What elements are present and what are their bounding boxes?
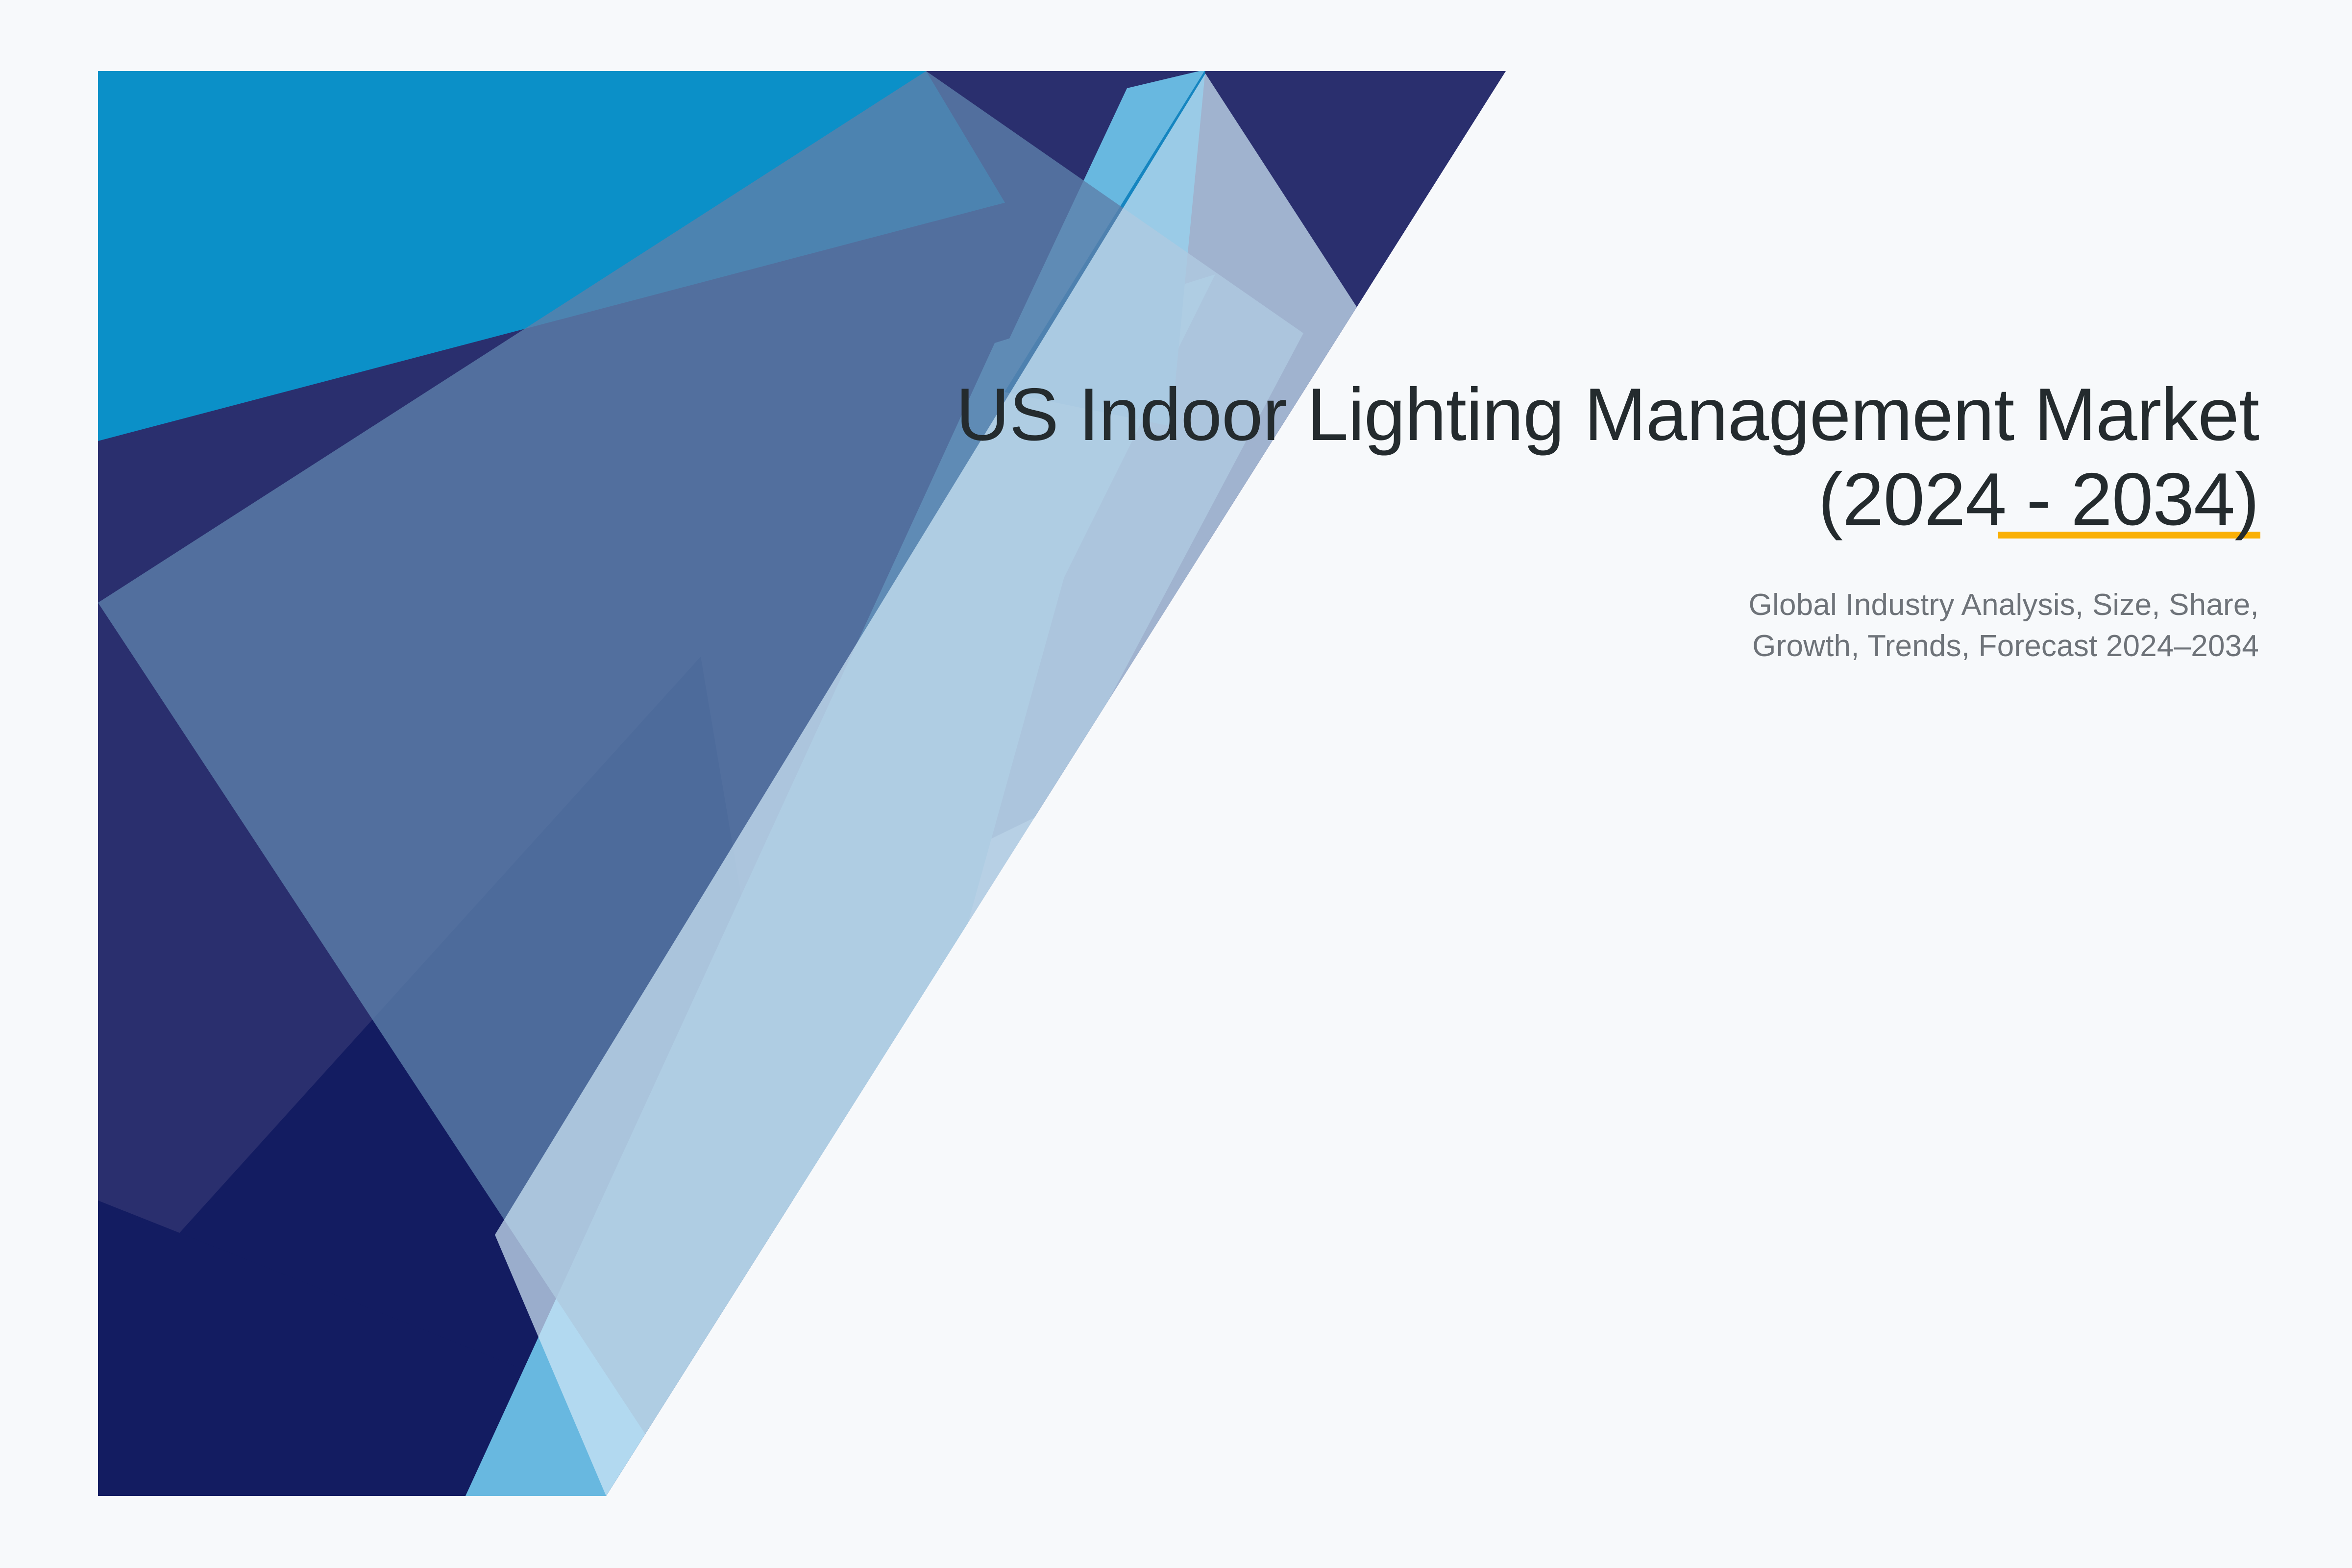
cover-page: US Indoor Lighting Management Market (20… bbox=[0, 0, 2352, 1568]
page-subtitle: Global Industry Analysis, Size, Share, G… bbox=[906, 542, 2259, 667]
abstract-geometric-artwork bbox=[0, 0, 2352, 1568]
page-title: US Indoor Lighting Management Market (20… bbox=[906, 372, 2259, 542]
title-wrapper: US Indoor Lighting Management Market (20… bbox=[906, 372, 2259, 542]
cover-text-block: US Indoor Lighting Management Market (20… bbox=[906, 372, 2259, 667]
